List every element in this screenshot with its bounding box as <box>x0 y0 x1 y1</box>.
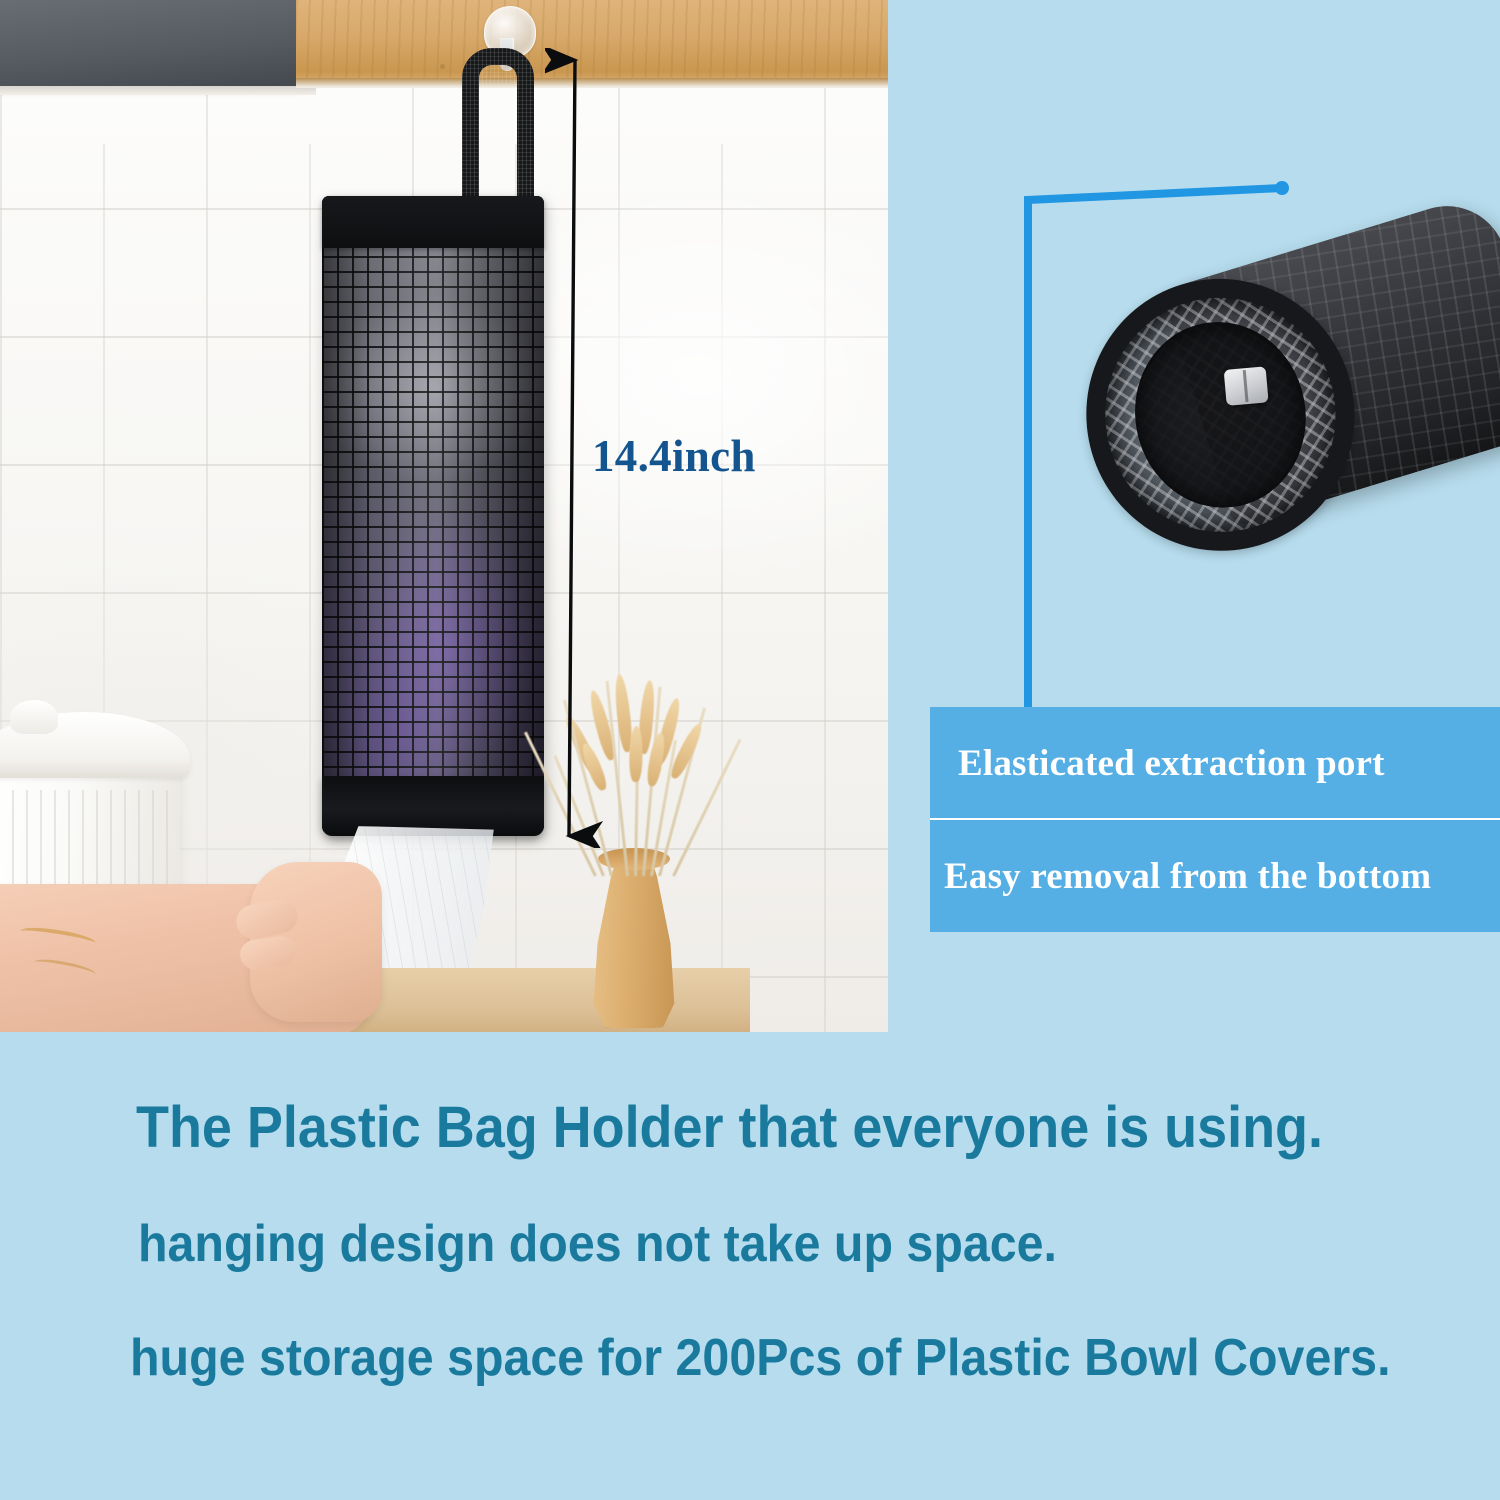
headline-line-2: hanging design does not take up space. <box>138 1214 1057 1274</box>
dimension-label: 14.4inch <box>592 430 756 482</box>
range-hood <box>0 0 310 87</box>
headline-line-3: huge storage space for 200Pcs of Plastic… <box>130 1328 1391 1388</box>
callout-easy-removal: Easy removal from the bottom <box>930 820 1500 932</box>
feature-detail-panel: Elasticated extraction port Easy removal… <box>930 0 1500 1032</box>
ceramic-pot-knob <box>10 700 58 734</box>
marketing-copy-band: The Plastic Bag Holder that everyone is … <box>0 1032 1500 1500</box>
cabinet-screw <box>440 64 445 69</box>
dried-grass-head <box>629 726 643 782</box>
product-lifestyle-photo: 14.4inch <box>0 0 888 1032</box>
callout-text: Easy removal from the bottom <box>944 855 1431 898</box>
leader-line <box>930 0 1500 760</box>
bag-shading <box>322 196 544 836</box>
bag-bottom-band <box>322 776 544 836</box>
bag-top-band <box>322 196 544 248</box>
range-hood-lip <box>0 86 316 95</box>
headline-line-1: The Plastic Bag Holder that everyone is … <box>136 1094 1323 1161</box>
callout-elasticated-port: Elasticated extraction port <box>930 707 1500 819</box>
mesh-bag-holder <box>322 196 544 836</box>
callout-text: Elasticated extraction port <box>958 742 1385 785</box>
infographic-canvas: 14.4inch Elasticated extraction port Eas… <box>0 0 1500 1500</box>
